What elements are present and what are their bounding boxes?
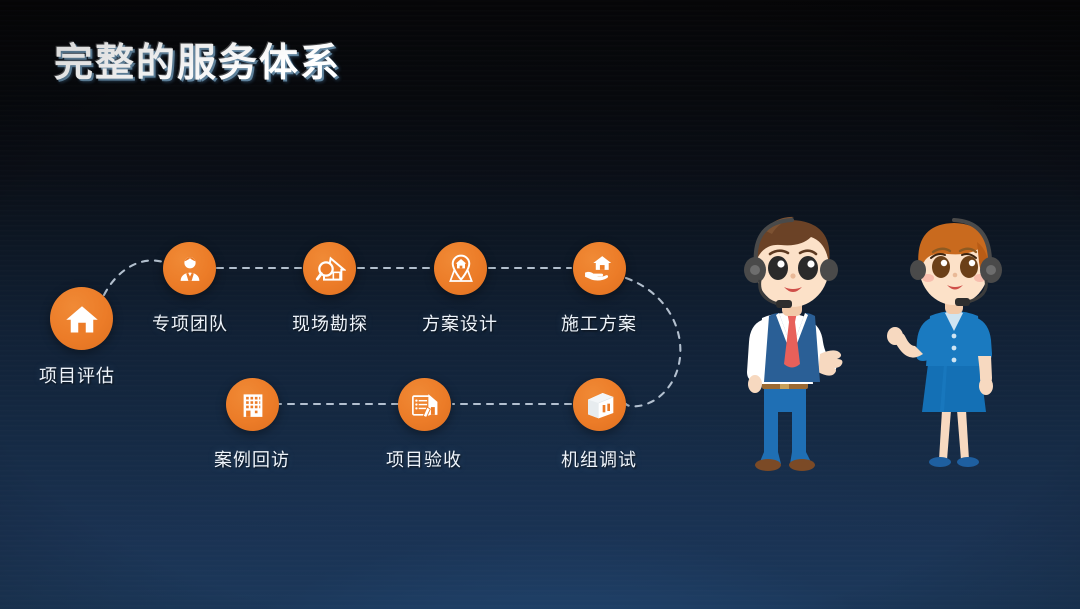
female-shoe-right bbox=[957, 457, 979, 467]
house-icon[interactable] bbox=[50, 287, 113, 350]
female-eye-left bbox=[932, 256, 950, 278]
location-pin-plan-icon-glyph bbox=[445, 253, 477, 285]
flow-node-label: 方案设计 bbox=[422, 310, 498, 336]
male-support-agent bbox=[744, 217, 842, 471]
male-hand-right bbox=[818, 350, 842, 375]
flow-node-label: 现场勘探 bbox=[292, 310, 368, 336]
connector-n1-n2 bbox=[104, 260, 163, 295]
checklist-house-icon-glyph bbox=[409, 389, 440, 420]
male-hand-left bbox=[748, 375, 762, 393]
flow-node-label: 专项团队 bbox=[152, 310, 228, 336]
flow-node-label: 项目验收 bbox=[386, 446, 462, 472]
female-eye-right bbox=[960, 256, 978, 278]
female-skirt bbox=[922, 364, 986, 412]
building-icon[interactable] bbox=[226, 378, 279, 431]
flow-node-label: 机组调试 bbox=[561, 446, 637, 472]
female-support-agent bbox=[887, 220, 1002, 467]
slide-canvas: 完整的服务体系 bbox=[0, 0, 1080, 609]
headset-mic bbox=[776, 300, 792, 308]
male-nose bbox=[790, 273, 795, 278]
male-eye-right bbox=[798, 256, 818, 280]
female-leg-left bbox=[939, 410, 951, 460]
connector-n5-n6 bbox=[626, 278, 680, 406]
flow-node-label: 施工方案 bbox=[561, 310, 637, 336]
male-arm-left bbox=[747, 320, 764, 381]
person-team-icon[interactable] bbox=[163, 242, 216, 295]
female-nose bbox=[953, 273, 958, 278]
female-shoe-left bbox=[929, 457, 951, 467]
hand-house-icon[interactable] bbox=[573, 242, 626, 295]
male-pants bbox=[759, 388, 812, 464]
flow-node-label: 项目评估 bbox=[39, 362, 115, 388]
flow-node-label: 案例回访 bbox=[214, 446, 290, 472]
male-eye-left bbox=[768, 256, 788, 280]
female-sleeve-right bbox=[977, 318, 992, 361]
checklist-house-icon[interactable] bbox=[398, 378, 451, 431]
unit-box-icon-glyph bbox=[584, 389, 616, 421]
location-pin-plan-icon[interactable] bbox=[434, 242, 487, 295]
male-shoe-right bbox=[789, 459, 815, 471]
flow-connector-paths bbox=[0, 0, 760, 609]
female-hand-left bbox=[887, 327, 903, 345]
female-hand-right bbox=[979, 377, 993, 395]
headset-mic bbox=[955, 298, 970, 306]
male-shoe-left bbox=[755, 459, 781, 471]
hand-house-icon-glyph bbox=[583, 252, 616, 285]
support-agents-illustration bbox=[712, 212, 1072, 492]
house-search-icon[interactable] bbox=[303, 242, 356, 295]
house-search-icon-glyph bbox=[314, 253, 346, 285]
person-team-icon-glyph bbox=[175, 254, 205, 284]
female-leg-right bbox=[957, 410, 969, 460]
house-icon-glyph bbox=[64, 301, 100, 337]
unit-box-icon[interactable] bbox=[573, 378, 626, 431]
service-flow-diagram: 项目评估 专项团队 bbox=[0, 0, 760, 609]
building-icon-glyph bbox=[238, 390, 268, 420]
